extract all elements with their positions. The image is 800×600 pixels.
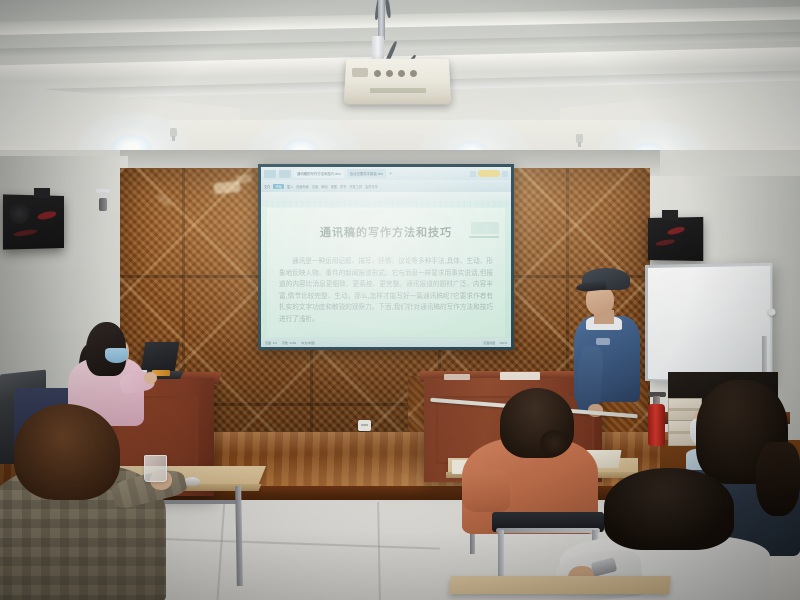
ribbon-tab-layout[interactable]: 页面布局	[296, 184, 309, 189]
glass-cup	[144, 455, 167, 482]
speaker-bracket-left	[34, 188, 50, 198]
projection-screen: 通讯稿的写作方法和技巧.doc 会议纪要范本模板.doc + 文件 开始 插入 …	[258, 164, 514, 350]
new-tab-icon[interactable]: +	[389, 171, 392, 177]
attendee-orange-ponytail	[540, 430, 568, 455]
podium-papers	[500, 372, 540, 380]
ribbon-tab-section[interactable]: 章节	[340, 184, 346, 189]
ribbon-tab-member[interactable]: 会员专享	[365, 184, 378, 189]
chair-leg	[498, 530, 504, 582]
app-titlebar: 通讯稿的写作方法和技巧.doc 会议纪要范本模板.doc +	[261, 167, 511, 180]
save-icon[interactable]	[279, 170, 291, 178]
ribbon-tab-reference[interactable]: 引用	[312, 184, 318, 189]
whiteboard-knob	[768, 308, 775, 315]
speaker-bracket-right	[662, 210, 678, 220]
projector-label	[370, 88, 426, 93]
login-button[interactable]	[478, 170, 500, 177]
presenter-left-face-mask	[105, 348, 128, 363]
podium-papers	[444, 374, 470, 380]
attendee-masked-ponytail	[756, 442, 800, 516]
fire-extinguisher	[648, 404, 665, 446]
ribbon-toolbar	[261, 192, 511, 201]
projector-connectors	[374, 70, 418, 78]
ribbon-tabs: 文件 开始 插入 页面布局 引用 审阅 视图 章节 开发工具 会员专享	[261, 180, 511, 192]
document-ruler	[261, 201, 511, 207]
ribbon-tab-file[interactable]: 文件	[264, 184, 270, 189]
box-tape	[668, 408, 700, 411]
security-camera-icon	[99, 198, 107, 211]
slide-title: 通讯稿的写作方法和技巧	[267, 224, 505, 240]
attendee-white-shirt-hair	[604, 468, 734, 550]
projector-mount-pole	[378, 0, 385, 40]
wall-speaker-left	[3, 194, 64, 249]
ribbon-tab-devtools[interactable]: 开发工具	[349, 184, 362, 189]
power-outlet[interactable]	[358, 420, 371, 431]
status-zoom[interactable]: 100%	[499, 341, 507, 345]
status-view-page[interactable]: 页面视图	[483, 341, 495, 345]
ribbon-tab-view[interactable]: 视图	[331, 184, 337, 189]
wall-speaker-right	[648, 217, 703, 261]
close-icon[interactable]	[502, 171, 508, 177]
status-language: 中文(中国)	[301, 341, 315, 345]
chair-frame	[496, 528, 600, 533]
app-statusbar: 页面: 1/3 字数: 1286 中文(中国) 页面视图 100%	[261, 338, 511, 347]
presenter-right-arm	[576, 345, 605, 413]
status-page: 页面: 1/3	[265, 341, 277, 345]
status-words: 字数: 1286	[282, 341, 296, 345]
slide-body-text: 通讯是一种运用记叙、描写、抒情、议论等多种手法,具体、生动、形象地反映人物、事件…	[279, 256, 493, 326]
ceiling-fixture	[170, 128, 177, 137]
ceiling-projector	[344, 59, 452, 105]
ribbon-tab-insert[interactable]: 插入	[287, 184, 293, 189]
minimize-icon[interactable]	[470, 171, 476, 177]
projector-vent	[352, 68, 368, 77]
document-tab[interactable]: 通讯稿的写作方法和技巧.doc	[294, 169, 344, 178]
attendee-orange-arm	[462, 470, 510, 512]
attendee-plaid-hair	[14, 404, 120, 500]
ribbon-tab-review[interactable]: 审阅	[321, 184, 327, 189]
ribbon-tab-home[interactable]: 开始	[273, 184, 283, 189]
attendee-desk-front	[449, 576, 671, 594]
document-page: 通讯稿的写作方法和技巧 通讯是一种运用记叙、描写、抒情、议论等多种手法,具体、生…	[267, 208, 505, 337]
whiteboard	[645, 263, 772, 384]
ceiling-fixture	[576, 134, 583, 143]
conference-room-photo: 通讯稿的写作方法和技巧.doc 会议纪要范本模板.doc + 文件 开始 插入 …	[0, 0, 800, 600]
file-menu-icon[interactable]	[264, 170, 276, 178]
presenter-left-hand	[144, 372, 157, 384]
presenter-right-jacket-logo	[596, 338, 610, 345]
document-tab[interactable]: 会议纪要范本模板.doc	[347, 169, 387, 178]
laptop-screen	[141, 342, 180, 373]
